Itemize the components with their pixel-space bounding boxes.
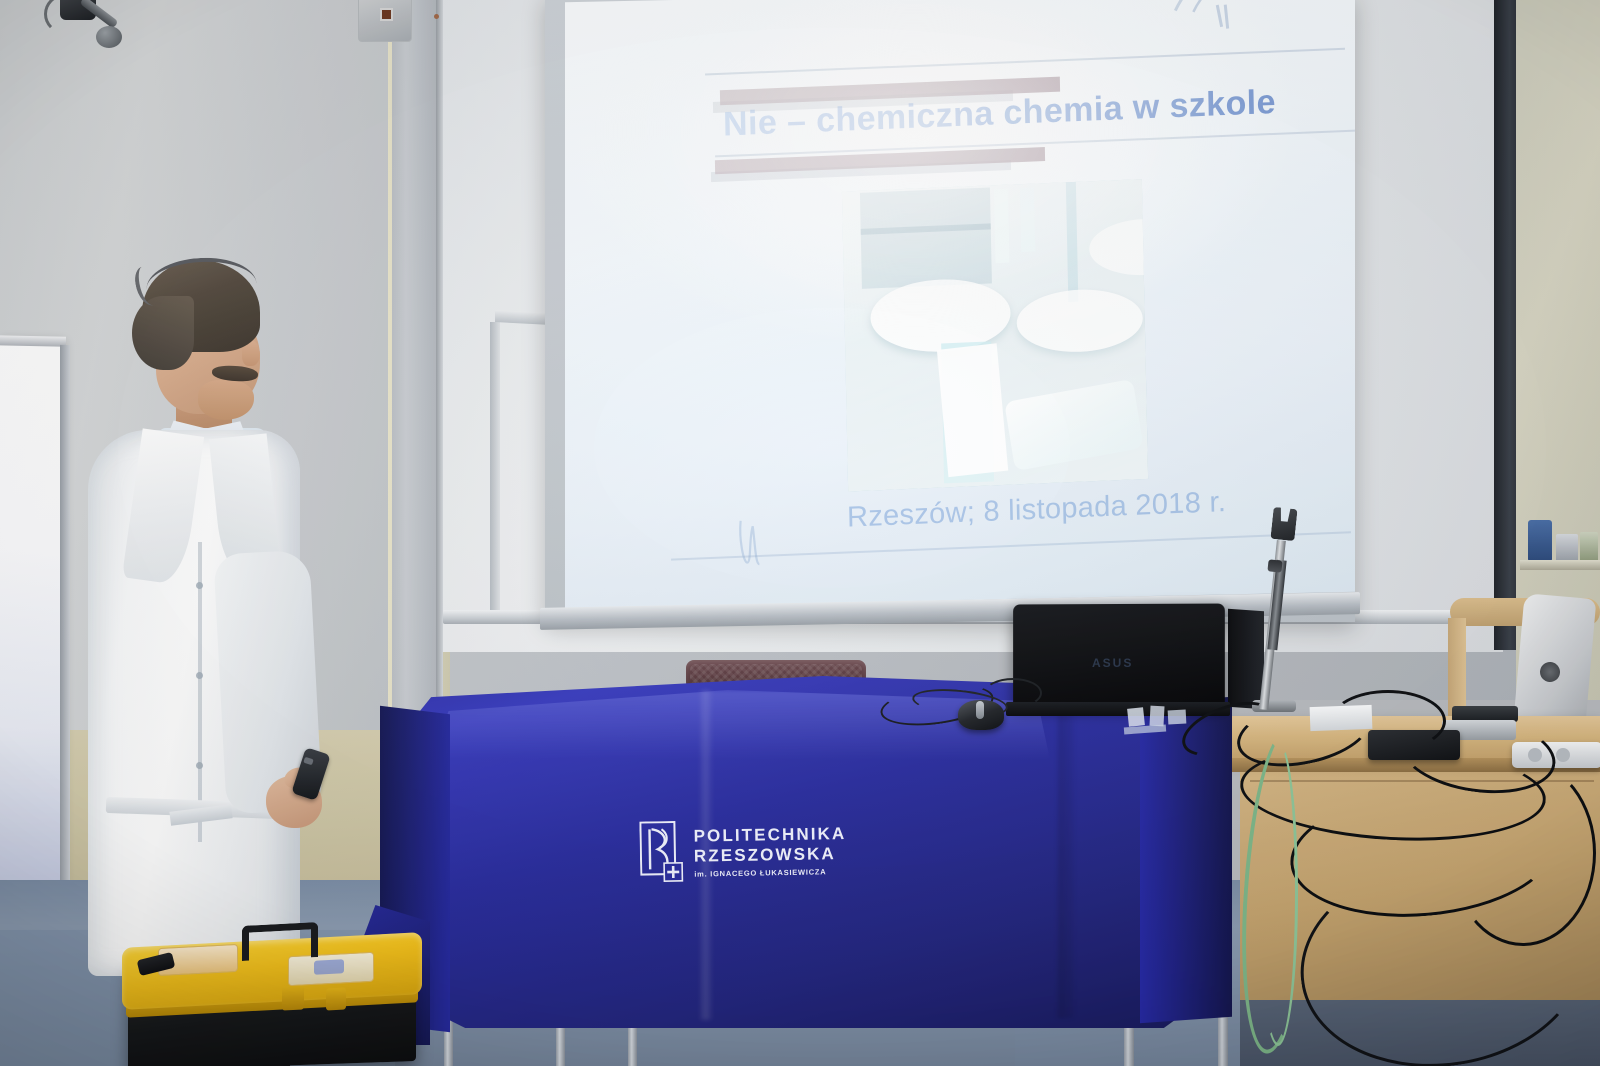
wall-speaker-icon <box>358 0 412 42</box>
logo-line-1: POLITECHNIKA <box>693 824 846 847</box>
laptop-base <box>1006 702 1230 716</box>
presenter-hair-side <box>132 296 194 370</box>
toolbox-handle[interactable] <box>242 922 318 961</box>
wall-marking <box>434 14 439 19</box>
laptop-rear <box>1228 609 1264 710</box>
prz-logo-text: POLITECHNIKA RZESZOWSKA im. IGNACEGO ŁUK… <box>693 824 847 880</box>
eyeglasses-icon <box>145 255 257 295</box>
mic-stand-collar[interactable] <box>1267 559 1282 572</box>
slide-squiggle-mark <box>733 518 774 568</box>
wall-pillar <box>392 0 438 768</box>
mouse-scroll-wheel[interactable] <box>976 701 984 719</box>
small-card <box>1127 707 1145 727</box>
wall-shelf <box>1520 560 1600 570</box>
small-card <box>1168 710 1187 725</box>
right-wall <box>1516 0 1600 700</box>
small-card <box>1149 706 1164 727</box>
speaker-led <box>380 8 393 21</box>
banner-top-rail <box>0 335 66 346</box>
presentation-slide: Nie – chemiczna chemia w szkole Rzeszów;… <box>565 0 1355 608</box>
slide-corner-logo <box>1164 0 1315 35</box>
pillar-edge <box>436 0 443 770</box>
toolbox-latch[interactable] <box>282 985 304 1010</box>
slide-photo <box>842 179 1148 491</box>
shelf-item-blue <box>1528 520 1552 562</box>
whiteboard-vertical-rail <box>490 322 500 622</box>
politechnika-rzeszowska-logo: POLITECHNIKA RZESZOWSKA im. IGNACEGO ŁUK… <box>639 816 820 899</box>
shelf-item-white <box>1556 534 1578 562</box>
tablecloth-fold <box>1058 700 1074 1018</box>
toolbox-compartment-content <box>314 959 344 975</box>
laptop-brand-label: ASUS <box>1092 656 1146 670</box>
toolbox-latch[interactable] <box>326 987 346 1010</box>
green-cable <box>1258 740 1298 1046</box>
lecture-room-scene: Nie – chemiczna chemia w szkole Rzeszów;… <box>0 0 1600 1066</box>
camera-mount <box>96 26 122 48</box>
power-socket[interactable] <box>1556 748 1570 762</box>
slide-top-rule <box>705 48 1345 76</box>
presenter-chin <box>198 380 254 420</box>
prz-emblem-icon <box>639 821 686 888</box>
projection-screen[interactable]: Nie – chemiczna chemia w szkole Rzeszów;… <box>565 0 1355 608</box>
shelf-item-green <box>1580 532 1598 562</box>
logo-line-2: RZESZOWSKA <box>694 844 847 867</box>
